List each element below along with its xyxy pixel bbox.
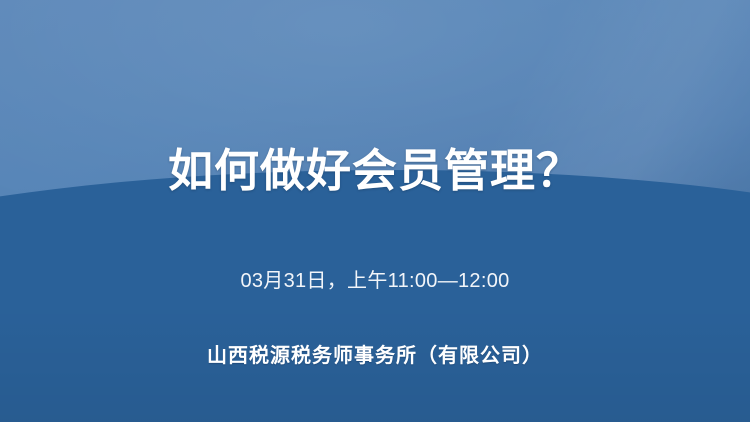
slide-date-time: 03月31日，上午11:00—12:00 [0,264,750,293]
title-slide: 如何做好会员管理？ 03月31日，上午11:00—12:00 山西税源税务师事务… [0,0,750,422]
slide-title: 如何做好会员管理？ [0,146,750,196]
slide-content: 如何做好会员管理？ 03月31日，上午11:00—12:00 山西税源税务师事务… [0,0,750,422]
slide-organization-name: 山西税源税务师事务所（有限公司） [0,339,750,368]
